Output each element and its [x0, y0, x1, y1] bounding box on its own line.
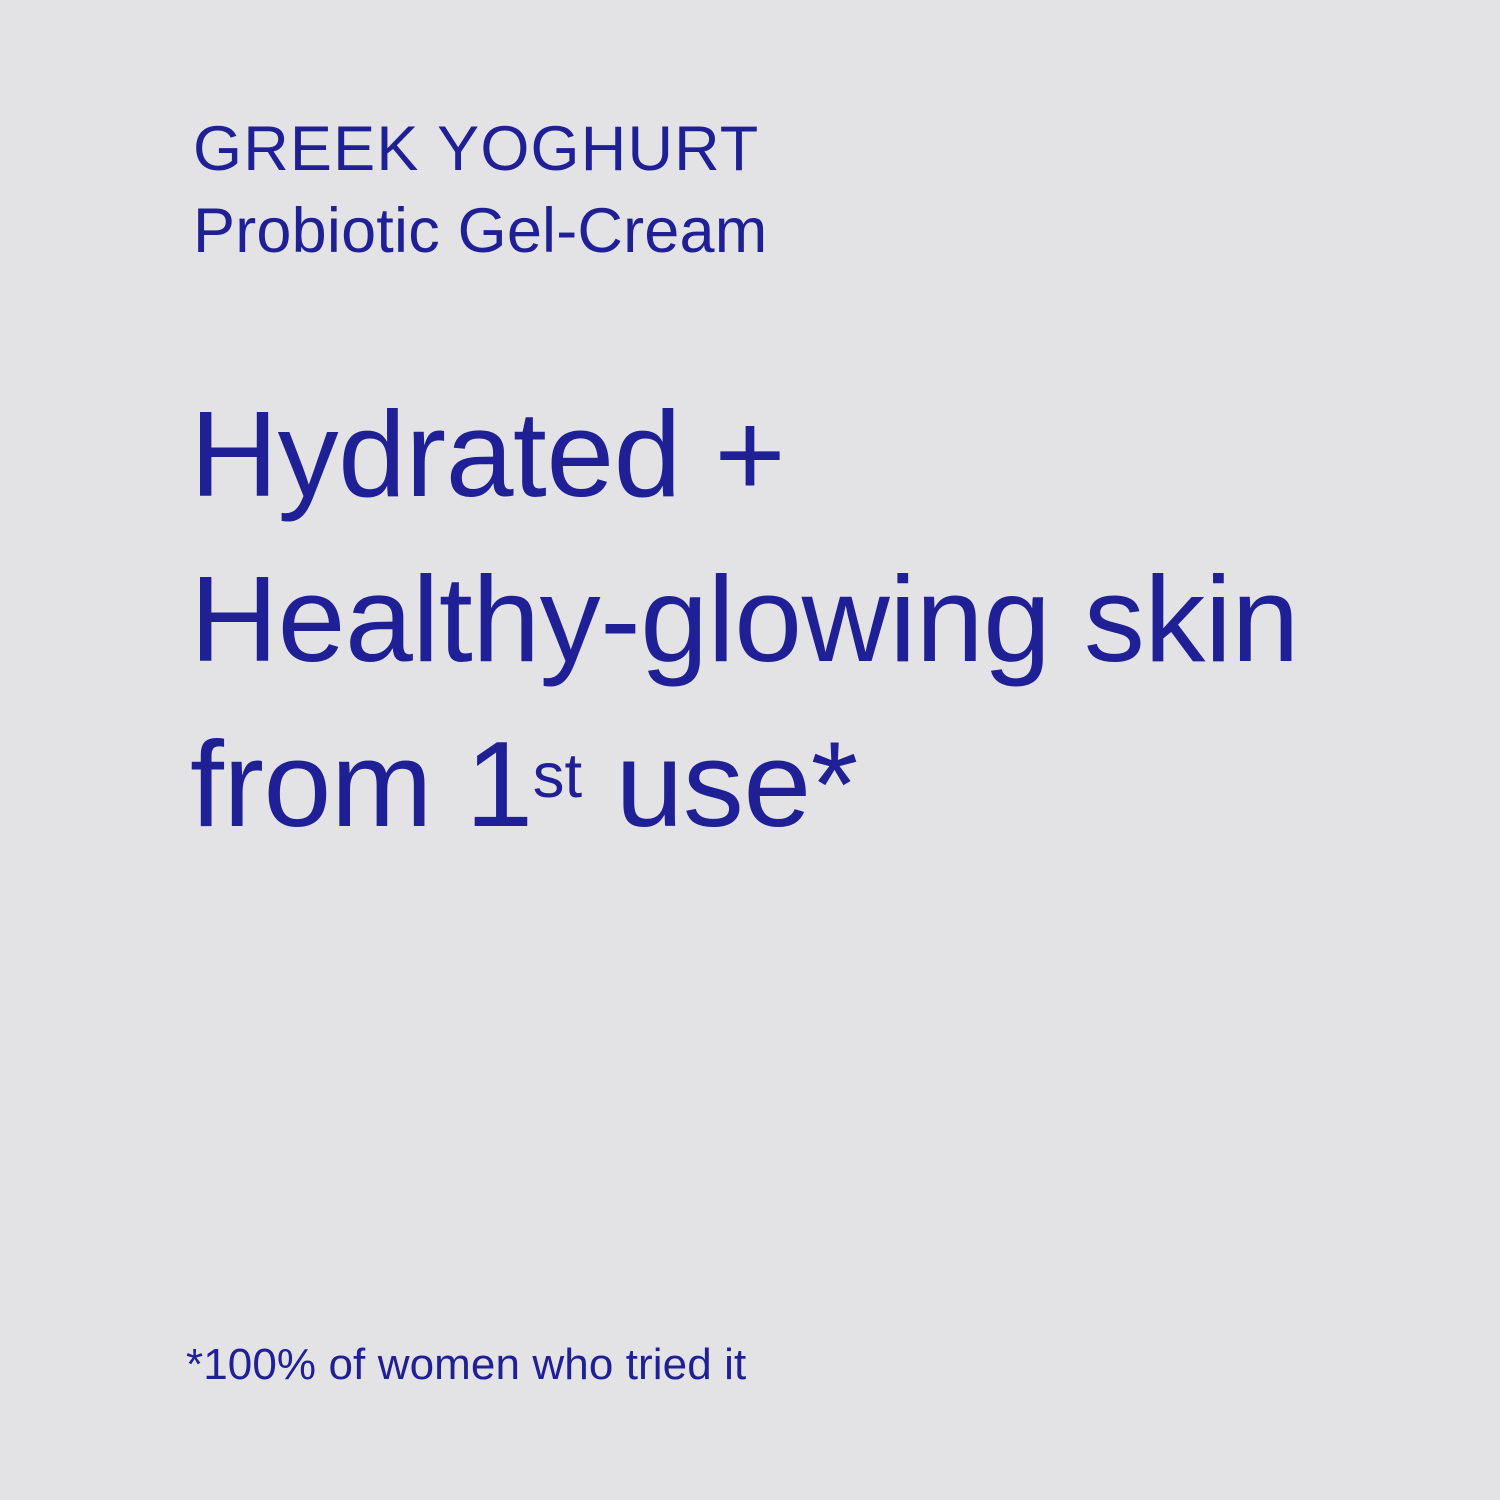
brand-eyebrow: GREEK YOGHURT — [193, 108, 767, 190]
product-name: Probiotic Gel-Cream — [193, 190, 767, 272]
headline-block: Hydrated + Healthy-glowing skin from 1st… — [190, 372, 1299, 888]
footnote-marker-asterisk: * — [811, 716, 858, 852]
footnote-text: *100% of women who tried it — [186, 1337, 746, 1393]
headline-line-2: Healthy-glowing skin — [190, 537, 1299, 702]
brand-header: GREEK YOGHURT Probiotic Gel-Cream — [193, 108, 767, 272]
headline-line-3-prefix: from 1 — [190, 716, 533, 852]
headline-line-3-suffix: use — [582, 716, 811, 852]
product-claim-poster: GREEK YOGHURT Probiotic Gel-Cream Hydrat… — [0, 0, 1500, 1500]
ordinal-suffix-st: st — [533, 741, 582, 811]
headline-line-1: Hydrated + — [190, 372, 1299, 537]
headline-line-3: from 1st use* — [190, 702, 1299, 888]
